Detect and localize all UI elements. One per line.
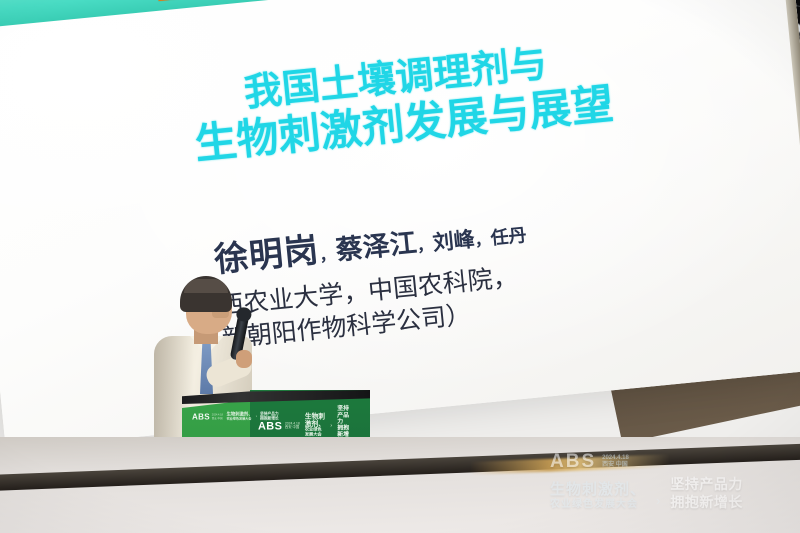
- watermark-top-row: ABS 2024.4.18 西安 中国: [550, 451, 786, 473]
- photo-scene: 生物刺激剂与农业绿色发展，西安，2024.04.18 我国土壤调理剂与 生物刺激…: [0, 0, 800, 533]
- podium-logo-divider: ›: [256, 415, 257, 419]
- podium-logo-divider: ›: [330, 422, 332, 428]
- podium-logo-cn-2: 农业绿色发展大会: [227, 417, 253, 420]
- abs-logo-mark: ABS: [258, 419, 282, 432]
- projection-screen: 生物刺激剂与农业绿色发展，西安，2024.04.18 我国土壤调理剂与 生物刺激…: [0, 0, 800, 450]
- watermark-abs-mark: ABS: [550, 451, 596, 473]
- watermark-slogan-2: 拥抱新增长: [670, 494, 743, 512]
- watermark-abs-sub-1: 2024.4.18: [602, 455, 629, 462]
- podium-slogan-1: 坚持产品力: [337, 406, 352, 425]
- watermark-cn-2: 农业绿色发展大会: [550, 499, 646, 511]
- slide-title: 我国土壤调理剂与 生物刺激剂发展与展望: [184, 24, 750, 168]
- watermark-divider: ›: [656, 493, 660, 511]
- abs-logo-sub-2: 西安 中国: [212, 417, 223, 420]
- speaker-hair: [180, 276, 232, 312]
- event-watermark: ABS 2024.4.18 西安 中国 生物刺激剂、 农业绿色发展大会 › 坚持…: [550, 451, 786, 517]
- author-second: 蔡泽江: [334, 221, 418, 268]
- watermark-abs-sub-2: 西安 中国: [602, 462, 629, 469]
- watermark-cn-1: 生物刺激剂、: [550, 481, 646, 499]
- podium-logo-cn-2: 农业绿色发展大会: [305, 428, 325, 437]
- watermark-bottom-row: 生物刺激剂、 农业绿色发展大会 › 坚持产品力 拥抱新增长: [550, 476, 786, 511]
- abs-logo-sub-2: 西安 中国: [285, 425, 300, 429]
- speaker-hand: [236, 350, 252, 368]
- watermark-slogan-1: 坚持产品力: [670, 476, 743, 494]
- podium-logo-cn-1: 生物刺激剂、: [305, 413, 325, 428]
- author-fourth: 任丹: [489, 221, 527, 250]
- abs-logo-mark: ABS: [192, 412, 210, 421]
- author-primary: 徐明岗: [212, 222, 321, 281]
- author-third: 刘峰: [431, 223, 476, 257]
